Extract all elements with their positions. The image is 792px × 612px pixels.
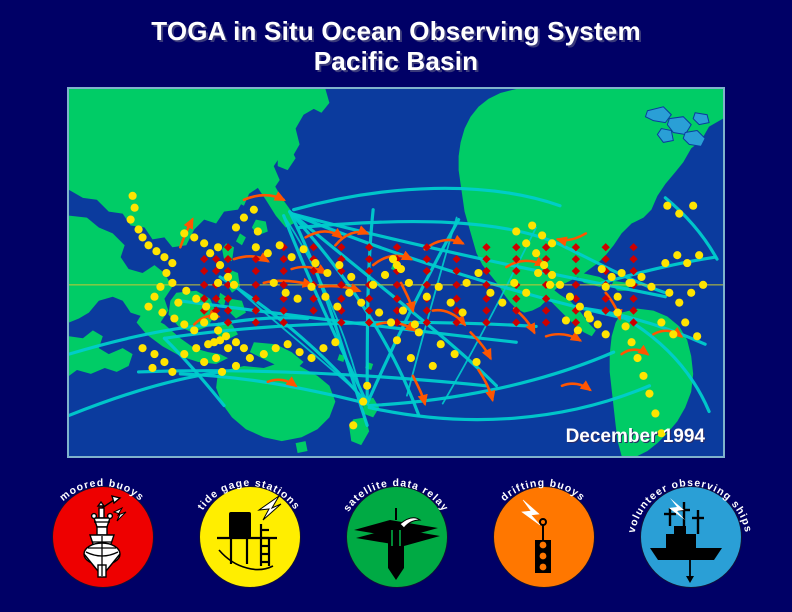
legend-item-volunteer-observing-ships[interactable]: volunteer observing ships	[626, 468, 754, 592]
satellite-icon	[346, 486, 446, 586]
slide-root: TOGA in Situ Ocean Observing System Paci…	[0, 0, 792, 612]
satellite-icon	[346, 486, 446, 586]
ship-icon	[640, 486, 740, 586]
tide-gage-icon	[199, 486, 299, 586]
ship-icon	[640, 486, 740, 586]
drifting-buoy-icon	[493, 486, 593, 586]
pacific-basin-map: December 1994	[67, 87, 725, 458]
legend-item-moored-buoys[interactable]: moored buoys	[38, 468, 166, 592]
tide-gage-icon	[199, 486, 299, 586]
moored-buoy-icon	[52, 486, 152, 586]
title-line-2: Pacific Basin	[0, 46, 792, 76]
date-label: December 1994	[566, 426, 705, 448]
drifting-buoy-icon	[493, 486, 593, 586]
legend-item-satellite-data-relay[interactable]: satellite data relay	[332, 468, 460, 592]
legend-item-tide-gage-stations[interactable]: tide gage stations	[185, 468, 313, 592]
legend-item-drifting-buoys[interactable]: drifting buoys	[479, 468, 607, 592]
map-canvas	[69, 89, 723, 456]
title-line-1: TOGA in Situ Ocean Observing System	[0, 16, 792, 46]
page-title: TOGA in Situ Ocean Observing System Paci…	[0, 16, 792, 76]
legend: moored buoys tide gage stations	[0, 468, 792, 598]
moored-buoy-icon	[52, 486, 152, 586]
